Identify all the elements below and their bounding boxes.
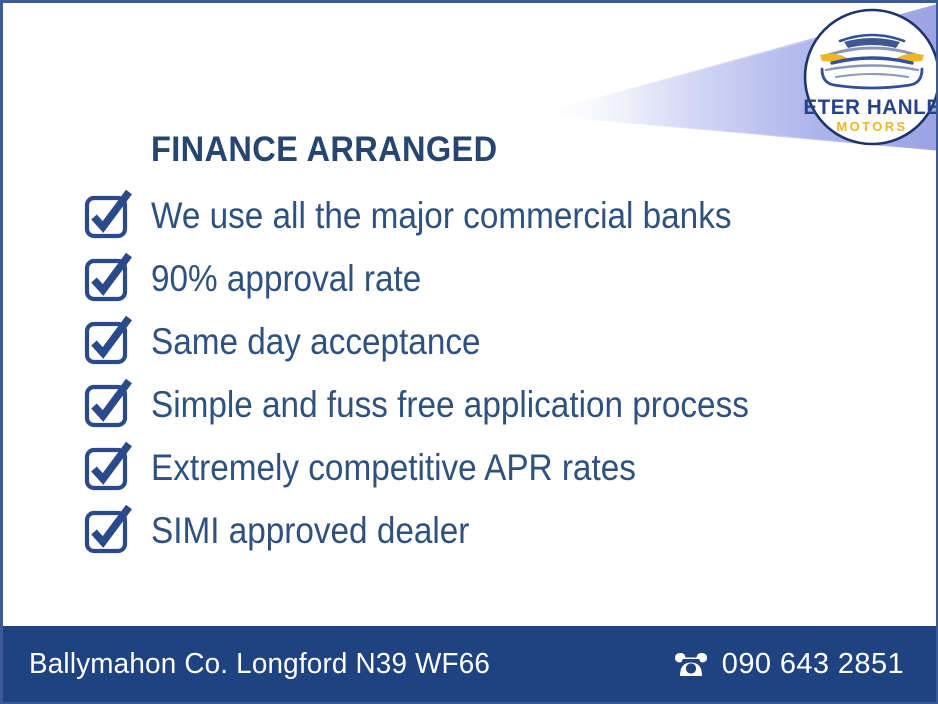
footer-bar: Ballymahon Co. Longford N39 WF66 090 643… — [3, 626, 936, 702]
checkbox-checked-icon — [81, 377, 135, 431]
page-title: FINANCE ARRANGED — [151, 131, 830, 170]
phone-contact[interactable]: 090 643 2851 — [673, 648, 912, 681]
feature-label: SIMI approved dealer — [151, 512, 469, 549]
checkbox-checked-icon — [81, 188, 135, 242]
list-item: SIMI approved dealer — [81, 499, 881, 562]
feature-label: Extremely competitive APR rates — [151, 449, 636, 486]
list-item: We use all the major commercial banks — [81, 184, 881, 247]
feature-list: We use all the major commercial banks 90… — [81, 184, 881, 562]
checkbox-checked-icon — [81, 251, 135, 305]
dealer-address: Ballymahon Co. Longford N39 WF66 — [29, 648, 490, 681]
list-item: 90% approval rate — [81, 247, 881, 310]
feature-label: Simple and fuss free application process — [151, 386, 749, 423]
checkbox-checked-icon — [81, 314, 135, 368]
finance-banner: PETER HANLEY MOTORS FINANCE ARRANGED We … — [0, 0, 938, 704]
peter-hanley-motors-logo: PETER HANLEY MOTORS — [802, 7, 938, 147]
feature-label: 90% approval rate — [151, 260, 421, 297]
checkbox-checked-icon — [81, 503, 135, 557]
feature-label: Same day acceptance — [151, 323, 481, 360]
checkbox-checked-icon — [81, 440, 135, 494]
banner-content: FINANCE ARRANGED We use all the major co… — [81, 131, 881, 562]
telephone-icon — [673, 649, 709, 679]
dealer-phone-number: 090 643 2851 — [722, 648, 904, 681]
list-item: Extremely competitive APR rates — [81, 436, 881, 499]
logo-wordmark-primary: PETER HANLEY — [802, 96, 938, 119]
list-item: Simple and fuss free application process — [81, 373, 881, 436]
feature-label: We use all the major commercial banks — [151, 197, 732, 234]
list-item: Same day acceptance — [81, 310, 881, 373]
